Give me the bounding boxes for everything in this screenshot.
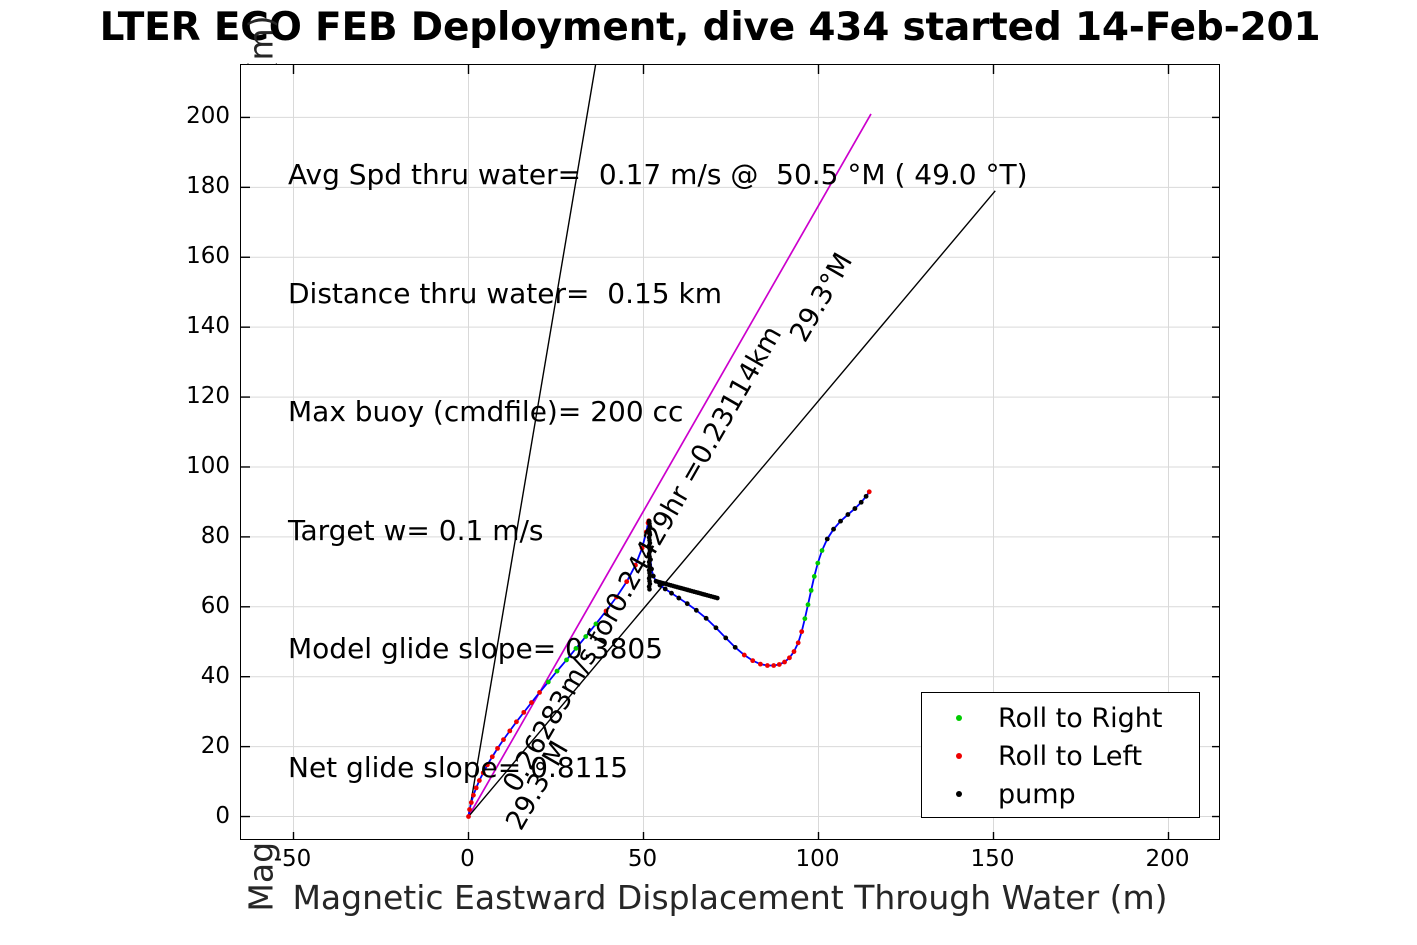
legend-item-roll-to-right[interactable]: Roll to Right <box>922 699 1199 737</box>
y-tick-60: 60 <box>160 593 230 619</box>
reference-line <box>469 191 996 817</box>
x-tick--50: -50 <box>274 846 312 872</box>
track-markers <box>466 489 872 819</box>
y-tick-180: 180 <box>160 173 230 199</box>
y-tick-140: 140 <box>160 313 230 339</box>
glider-track-line <box>469 492 870 817</box>
y-tick-100: 100 <box>160 453 230 479</box>
x-tick-100: 100 <box>796 846 840 872</box>
x-tick-200: 200 <box>1146 846 1190 872</box>
legend-label-roll-to-right: Roll to Right <box>998 703 1162 734</box>
y-tick-160: 160 <box>160 243 230 269</box>
page-title: LTER ECO FEB Deployment, dive 434 starte… <box>0 6 1417 50</box>
figure-root: LTER ECO FEB Deployment, dive 434 starte… <box>0 0 1417 945</box>
legend-dot-roll-to-left-icon <box>944 753 974 759</box>
y-tick-20: 20 <box>160 733 230 759</box>
x-tick-0: 0 <box>460 846 475 872</box>
legend-dot-pump-icon <box>944 791 974 797</box>
legend[interactable]: Roll to Right Roll to Left pump <box>921 692 1200 818</box>
legend-item-roll-to-left[interactable]: Roll to Left <box>922 737 1199 775</box>
x-tick-50: 50 <box>628 846 657 872</box>
legend-label-roll-to-left: Roll to Left <box>998 741 1142 772</box>
legend-dot-roll-to-right-icon <box>944 715 974 721</box>
y-tick-80: 80 <box>160 523 230 549</box>
reference-line <box>469 114 872 817</box>
legend-label-pump: pump <box>998 779 1076 810</box>
legend-item-pump[interactable]: pump <box>922 775 1199 813</box>
y-tick-200: 200 <box>160 103 230 129</box>
y-tick-40: 40 <box>160 663 230 689</box>
y-tick-120: 120 <box>160 383 230 409</box>
x-axis-label: Magnetic Eastward Displacement Through W… <box>240 878 1220 917</box>
y-tick-0: 0 <box>160 803 230 829</box>
x-tick-150: 150 <box>971 846 1015 872</box>
